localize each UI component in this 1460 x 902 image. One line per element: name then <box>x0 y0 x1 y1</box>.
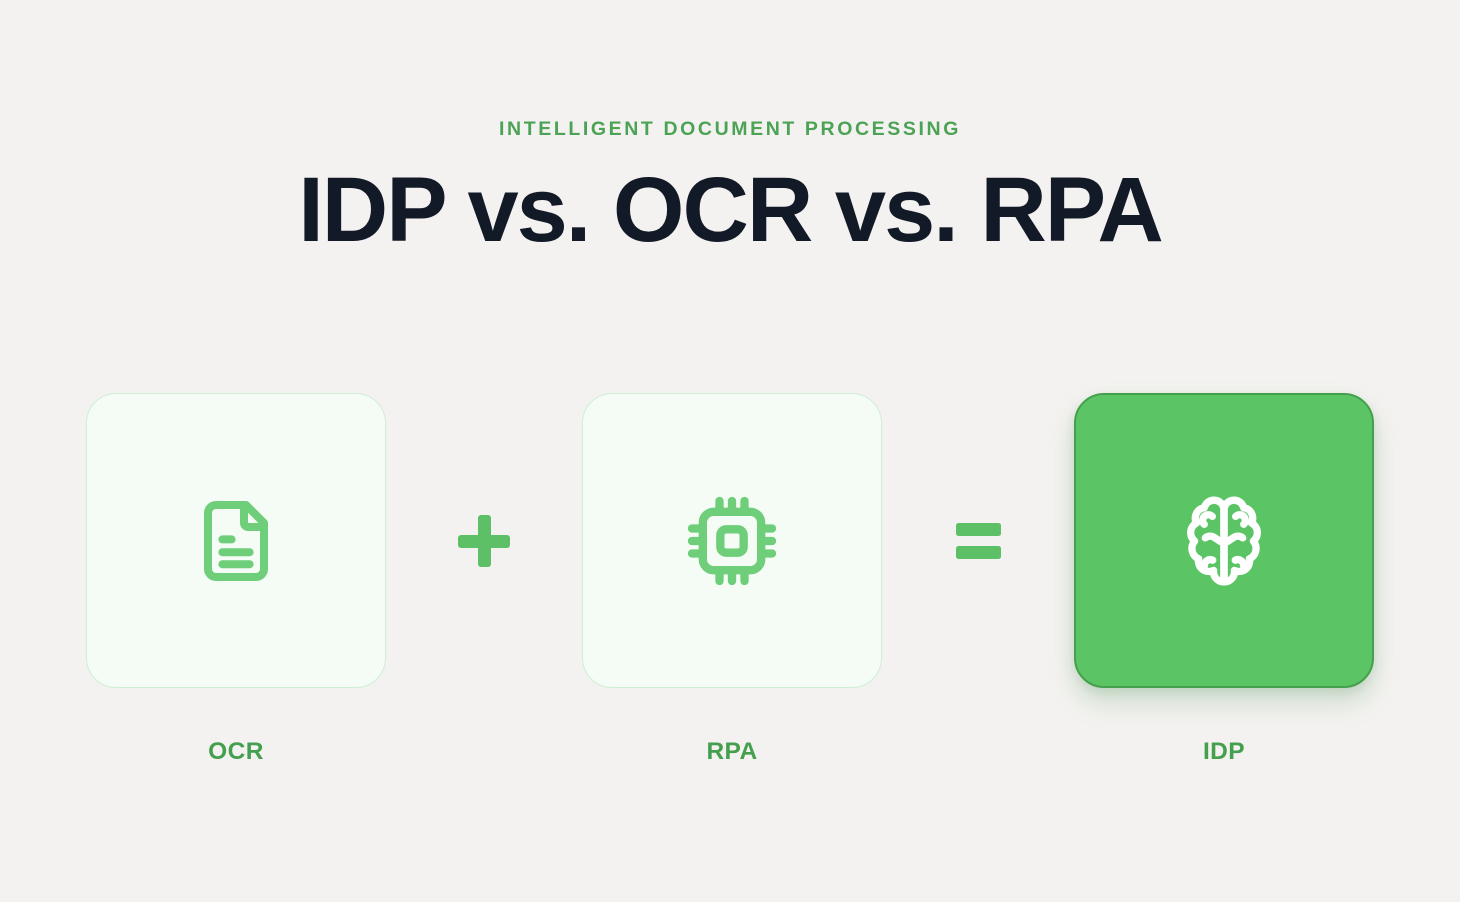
equals-icon <box>956 523 1001 559</box>
equation-item-idp: IDP <box>1074 393 1374 765</box>
page-title: IDP vs. OCR vs. RPA <box>0 163 1460 259</box>
document-text-icon <box>188 493 284 589</box>
equation-row: OCR <box>0 393 1460 693</box>
header: INTELLIGENT DOCUMENT PROCESSING IDP vs. … <box>0 118 1460 259</box>
card-ocr[interactable] <box>86 393 386 688</box>
cpu-chip-icon <box>682 491 782 591</box>
plus-icon <box>458 515 510 567</box>
card-label-idp: IDP <box>1203 740 1245 765</box>
card-rpa[interactable] <box>582 393 882 688</box>
operator-equals-slot <box>882 393 1074 688</box>
equation-item-rpa: RPA <box>582 393 882 765</box>
eyebrow-label: INTELLIGENT DOCUMENT PROCESSING <box>0 118 1460 141</box>
equation-item-ocr: OCR <box>86 393 386 765</box>
card-label-rpa: RPA <box>706 740 757 765</box>
operator-plus-slot <box>386 393 582 688</box>
slide-canvas: INTELLIGENT DOCUMENT PROCESSING IDP vs. … <box>0 0 1460 902</box>
brain-icon <box>1174 491 1274 591</box>
card-label-ocr: OCR <box>208 740 264 765</box>
card-idp[interactable] <box>1074 393 1374 688</box>
